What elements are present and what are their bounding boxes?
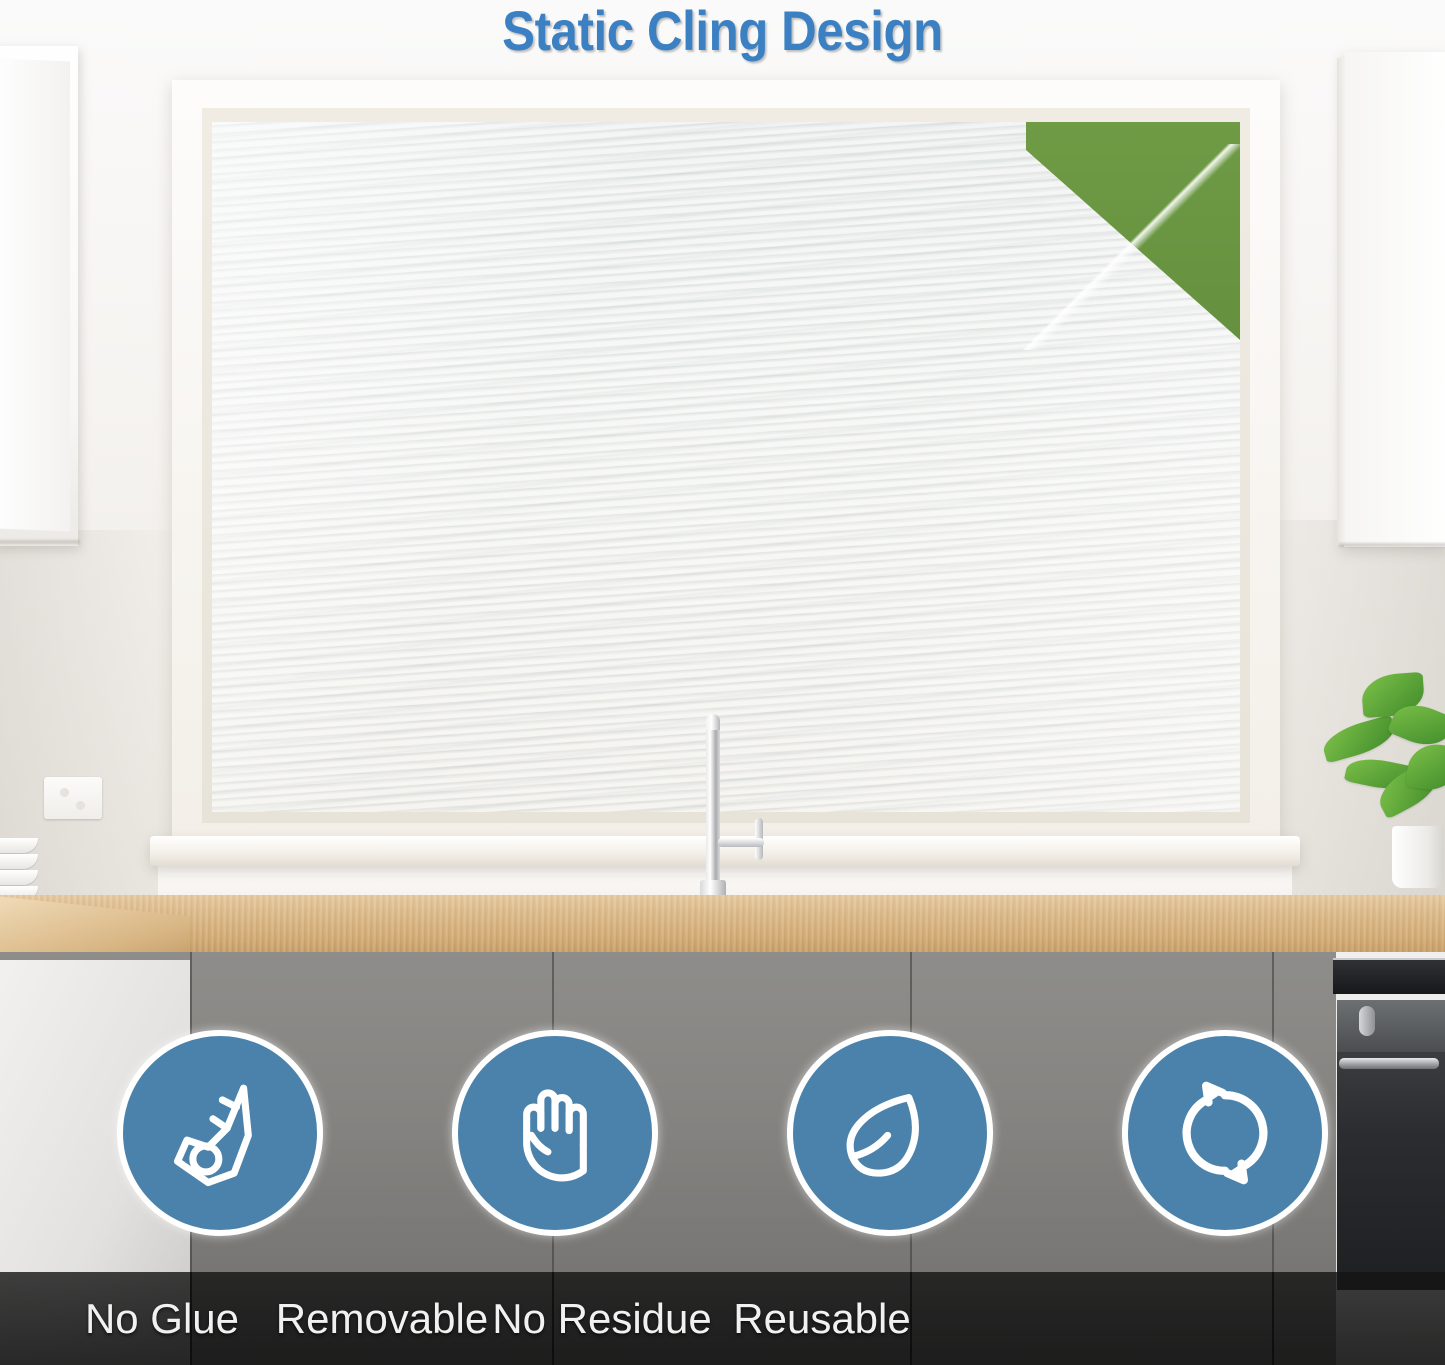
upper-cabinet-right-side xyxy=(1337,58,1347,545)
static-cling-film xyxy=(212,122,1240,812)
leaf-icon xyxy=(831,1074,949,1192)
feature-label-reusable: Reusable xyxy=(712,1295,932,1343)
cooktop xyxy=(1333,958,1445,994)
window-glass xyxy=(212,122,1240,812)
page-title: Static Cling Design xyxy=(87,0,1359,63)
product-image: Static Cling Design xyxy=(0,0,1445,1365)
wall-outlet-icon xyxy=(44,777,102,819)
upper-cabinet-left-edge xyxy=(0,540,80,544)
leaf-icon-badge xyxy=(787,1030,993,1236)
feature-reusable xyxy=(1115,1030,1335,1236)
feature-no-glue xyxy=(110,1030,330,1236)
potted-plant xyxy=(1316,668,1445,838)
recycle-arrows-icon xyxy=(1166,1074,1284,1192)
upper-cabinet-left-door xyxy=(0,59,70,532)
feature-label-no-glue: No Glue xyxy=(52,1295,272,1343)
feature-label-removable: Removable xyxy=(272,1295,492,1343)
film-sheen xyxy=(212,122,1240,812)
open-hand-icon xyxy=(496,1074,614,1192)
recycle-arrows-icon-badge xyxy=(1122,1030,1328,1236)
feature-icon-row xyxy=(0,1030,1445,1260)
plant-pot xyxy=(1392,826,1444,888)
faucet-handle xyxy=(718,838,764,847)
glue-bottle-icon-badge xyxy=(117,1030,323,1236)
upper-cabinet-right xyxy=(1344,52,1445,547)
feature-removable xyxy=(445,1030,665,1236)
faucet-neck xyxy=(706,718,720,903)
feature-no-residue xyxy=(780,1030,1000,1236)
feature-label-no-residue: No Residue xyxy=(492,1295,712,1343)
upper-cabinet-right-edge xyxy=(1339,543,1445,547)
feature-label-bar: No Glue Removable No Residue Reusable xyxy=(0,1272,1445,1365)
glue-bottle-icon xyxy=(161,1074,279,1192)
open-hand-icon-badge xyxy=(452,1030,658,1236)
faucet-spout xyxy=(706,714,720,730)
